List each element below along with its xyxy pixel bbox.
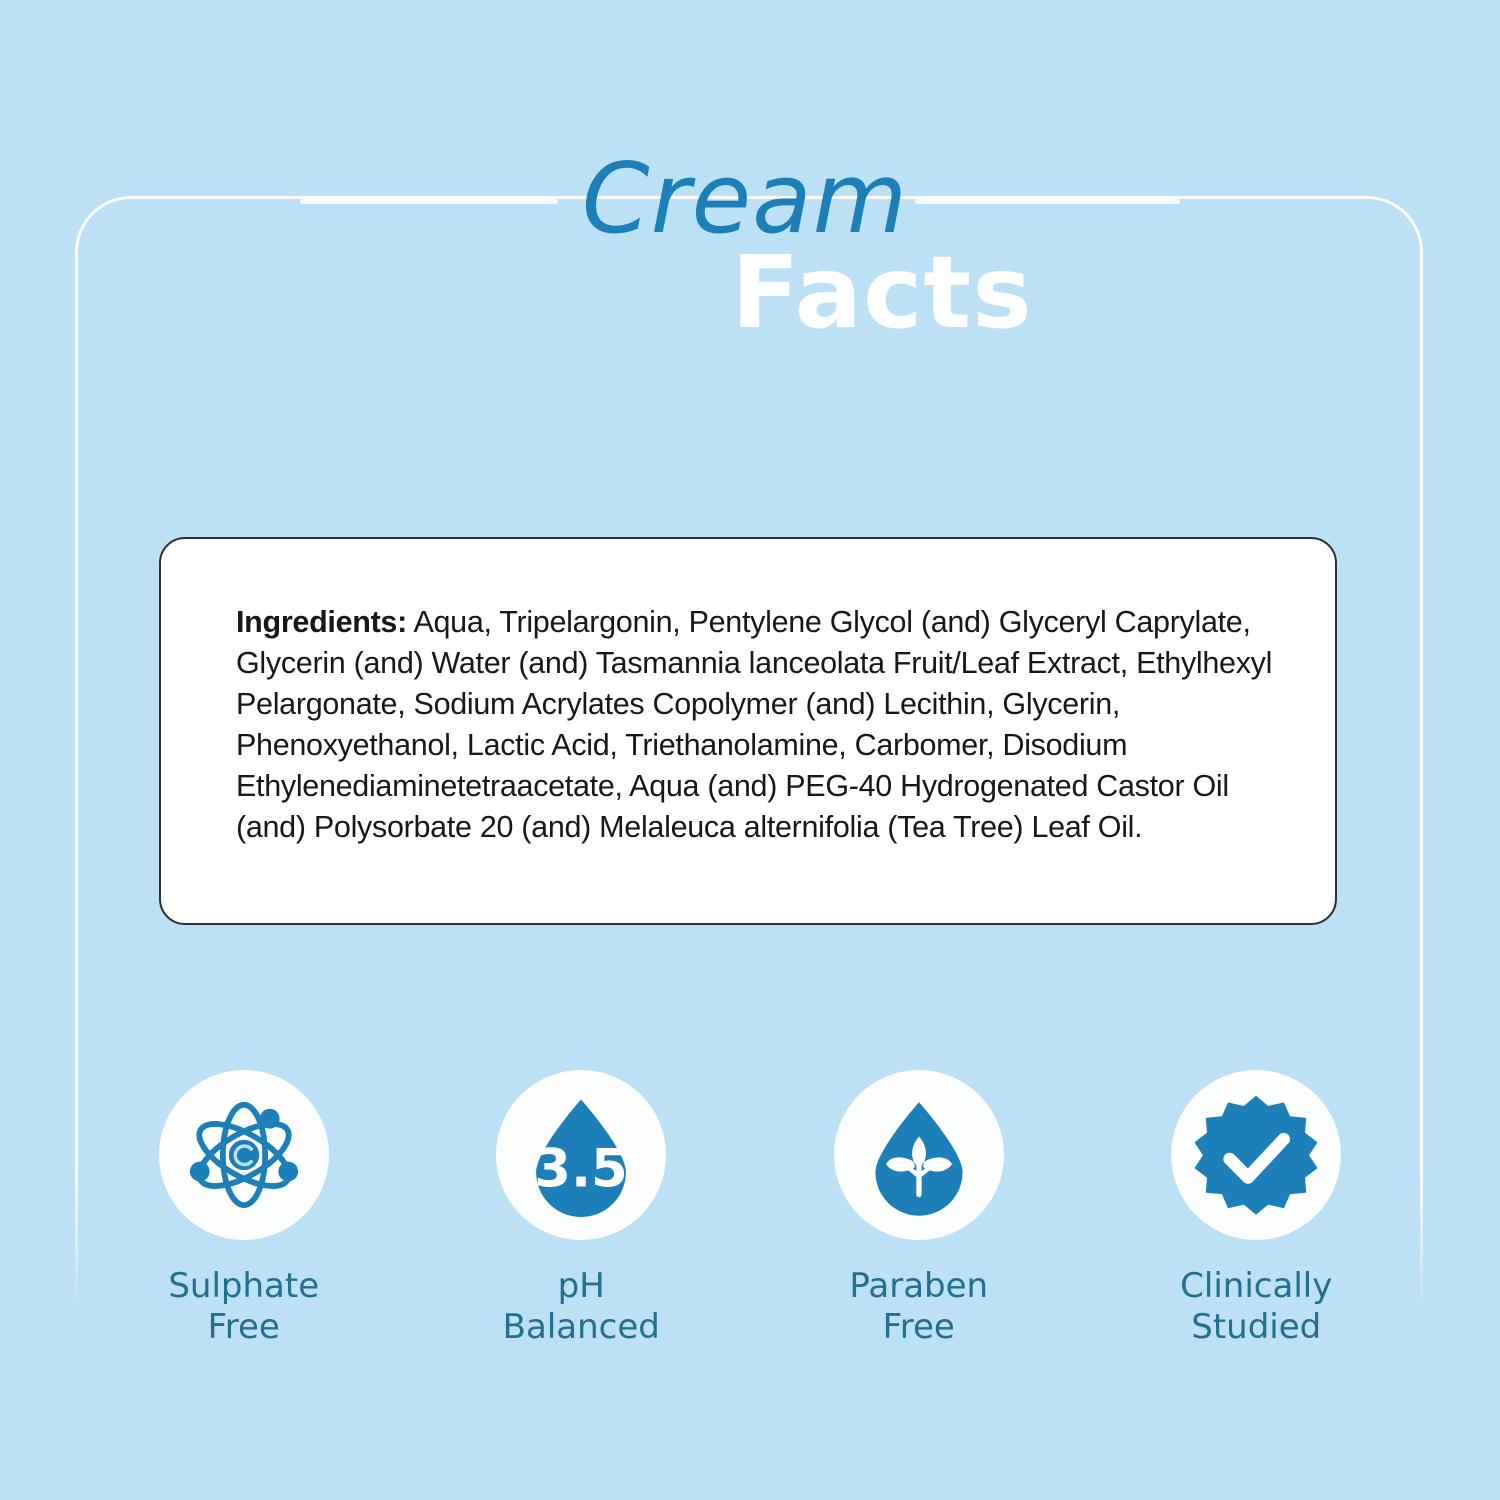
- atom-icon: [178, 1089, 310, 1221]
- feature-label-line1: Sulphate: [168, 1266, 319, 1306]
- feature-label-line2: Free: [168, 1307, 319, 1348]
- infographic-root: Cream Facts Ingredients: Aqua, Tripelarg…: [0, 0, 1500, 1500]
- feature-label-line2: Balanced: [503, 1307, 660, 1348]
- leaf-droplet-icon: [853, 1089, 985, 1221]
- feature-badge-circle: [1171, 1070, 1341, 1240]
- feature-label-line1: Clinically: [1180, 1266, 1332, 1306]
- feature-ph-balanced: 3.5 pH Balanced: [441, 1070, 721, 1348]
- feature-label: pH Balanced: [503, 1266, 660, 1348]
- feature-paraben-free: Paraben Free: [779, 1070, 1059, 1348]
- ph-value: 3.5: [534, 1139, 628, 1200]
- ingredients-list: Aqua, Tripelargonin, Pentylene Glycol (a…: [236, 605, 1272, 844]
- header: Cream Facts: [0, 0, 1500, 360]
- ingredients-card: Ingredients: Aqua, Tripelargonin, Pentyl…: [159, 537, 1337, 925]
- feature-label: Sulphate Free: [168, 1266, 319, 1348]
- feature-badge-circle: [834, 1070, 1004, 1240]
- ingredients-text: Ingredients: Aqua, Tripelargonin, Pentyl…: [236, 602, 1291, 848]
- feature-clinically-studied: Clinically Studied: [1116, 1070, 1396, 1348]
- feature-label-line1: pH: [558, 1266, 605, 1306]
- page-title-bold-text: Facts: [731, 243, 1033, 343]
- feature-label-line1: Paraben: [849, 1266, 988, 1306]
- feature-badge-circle: [159, 1070, 329, 1240]
- feature-badges: Sulphate Free 3.5 pH Balanced: [75, 1070, 1425, 1360]
- feature-label: Clinically Studied: [1180, 1266, 1332, 1348]
- verified-check-badge-icon: [1190, 1089, 1322, 1221]
- feature-badge-circle: 3.5: [496, 1070, 666, 1240]
- feature-label-line2: Studied: [1180, 1307, 1332, 1348]
- ph-droplet-icon: 3.5: [515, 1089, 647, 1221]
- ingredients-label: Ingredients:: [236, 605, 407, 639]
- feature-label-line2: Free: [849, 1307, 988, 1348]
- page-title-script-text: Cream: [582, 150, 908, 247]
- page-title-script: Cream: [0, 150, 1500, 247]
- page-title-bold: Facts: [0, 243, 1500, 343]
- feature-sulphate-free: Sulphate Free: [104, 1070, 384, 1348]
- feature-label: Paraben Free: [849, 1266, 988, 1348]
